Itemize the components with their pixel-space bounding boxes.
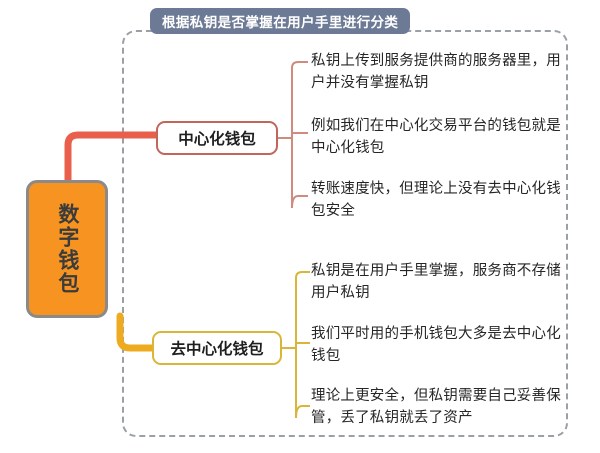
branch-node-label: 中心化钱包 <box>178 127 256 149</box>
diagram-header-badge: 根据私钥是否掌握在用户手里进行分类 <box>150 8 410 34</box>
leaf-text: 理论上更安全，但私钥需要自己妥善保管，丢了私钥就丢了资产 <box>311 385 563 430</box>
root-node-digital-wallet[interactable]: 数字钱包 <box>26 180 108 318</box>
leaf-text: 我们平时用的手机钱包大多是去中心化钱包 <box>311 323 563 368</box>
branch-node-decentralized[interactable]: 去中心化钱包 <box>152 331 282 365</box>
branch-node-centralized[interactable]: 中心化钱包 <box>156 121 278 155</box>
header-label: 根据私钥是否掌握在用户手里进行分类 <box>162 11 398 31</box>
root-node-label: 数字钱包 <box>53 203 81 295</box>
mindmap-canvas: 根据私钥是否掌握在用户手里进行分类 数字钱包 中心化钱包 去中心化钱包 私钥上传… <box>0 0 600 453</box>
leaf-text: 私钥是在用户手里掌握，服务商不存储用户私钥 <box>311 260 563 305</box>
leaf-text: 转账速度快，但理论上没有去中心化钱包安全 <box>311 178 563 223</box>
leaf-text: 例如我们在中心化交易平台的钱包就是中心化钱包 <box>311 115 563 160</box>
leaf-text: 私钥上传到服务提供商的服务器里，用户并没有掌握私钥 <box>311 50 563 95</box>
branch-node-label: 去中心化钱包 <box>170 337 263 359</box>
